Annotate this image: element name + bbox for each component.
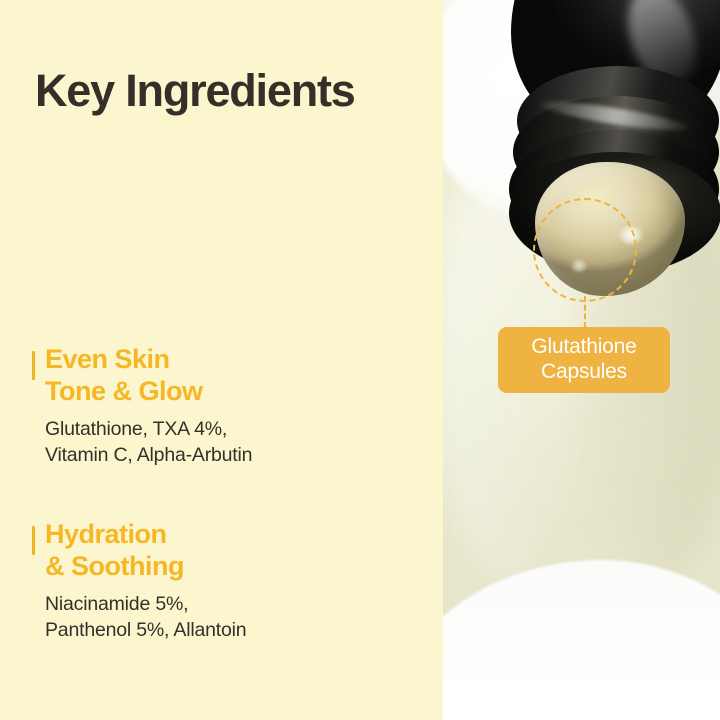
ingredient-block-even-skin-tone: Even Skin Tone & Glow Glutathione, TXA 4… [32,344,432,469]
product-photo: Glutathione Capsules [443,0,720,720]
accent-bar-icon [32,526,35,555]
callout-circle-icon [533,198,637,302]
callout-badge-label: Glutathione Capsules [531,335,636,385]
ingredient-heading: Hydration & Soothing [32,519,432,582]
page-title: Key Ingredients [35,67,355,114]
ingredient-body: Glutathione, TXA 4%, Vitamin C, Alpha-Ar… [32,407,432,469]
ingredient-heading: Even Skin Tone & Glow [32,344,432,407]
accent-bar-icon [32,351,35,380]
ingredient-body: Niacinamide 5%, Panthenol 5%, Allantoin [32,582,432,644]
callout-connector-icon [584,296,586,328]
ingredients-panel: Key Ingredients Even Skin Tone & Glow Gl… [0,0,443,720]
ingredient-block-hydration-soothing: Hydration & Soothing Niacinamide 5%, Pan… [32,519,432,644]
key-ingredients-graphic: Key Ingredients Even Skin Tone & Glow Gl… [0,0,720,720]
callout-badge: Glutathione Capsules [498,327,670,393]
